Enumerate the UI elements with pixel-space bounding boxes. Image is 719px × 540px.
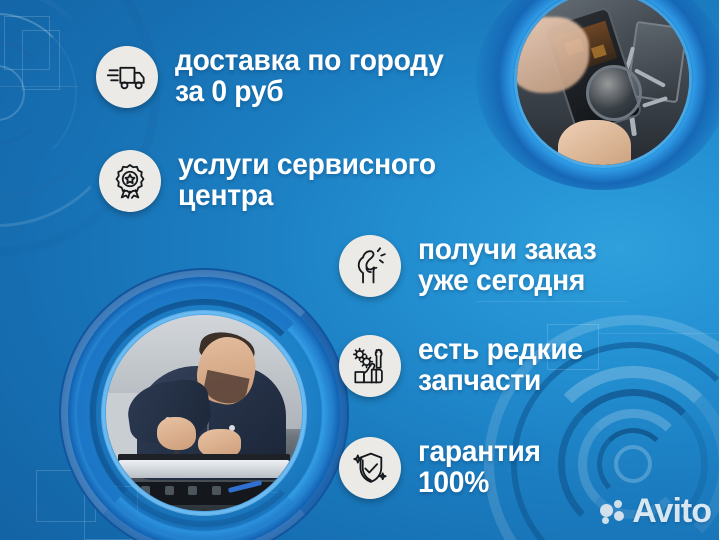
feature-row-service-center: услуги сервисного центра — [99, 150, 452, 212]
feature-row-delivery: доставка по городу за 0 руб — [96, 46, 461, 108]
delivery-truck-icon — [96, 46, 158, 108]
feature-label-service-center: услуги сервисного центра — [178, 150, 436, 212]
decorative-line-b — [477, 301, 627, 302]
decorative-square-b — [22, 30, 60, 90]
feature-label-delivery: доставка по городу за 0 руб — [175, 46, 444, 108]
snapping-fingers-icon — [339, 235, 401, 297]
feature-row-warranty: гарантия 100% — [339, 437, 549, 499]
hand-with-gears-wrench-icon — [339, 335, 401, 397]
avito-wordmark: Avito — [632, 492, 711, 531]
decorative-line-c — [599, 333, 719, 334]
avito-watermark: Avito — [600, 492, 711, 531]
feature-row-same-day: получи заказ уже сегодня — [339, 235, 608, 297]
feature-label-same-day: получи заказ уже сегодня — [418, 235, 596, 297]
decorative-line-d — [150, 492, 280, 493]
phone-repair-photo — [492, 0, 714, 174]
promo-poster: доставка по городу за 0 руб услуги серви… — [0, 0, 719, 540]
decorative-square-e — [84, 486, 138, 540]
award-badge-icon — [99, 150, 161, 212]
decorative-line-a — [0, 86, 78, 87]
feature-label-warranty: гарантия 100% — [418, 437, 541, 499]
shield-check-icon — [339, 437, 401, 499]
decorative-square-a — [4, 16, 50, 70]
technician-repairing-laptop-photo — [59, 268, 349, 540]
decorative-square-d — [36, 470, 96, 522]
feature-row-rare-parts: есть редкие запчасти — [339, 335, 593, 397]
feature-label-rare-parts: есть редкие запчасти — [418, 335, 583, 397]
repair-arm-stand — [620, 38, 678, 138]
decorative-tech-rings-top-left — [0, 0, 162, 258]
avito-dots-icon — [600, 500, 626, 524]
